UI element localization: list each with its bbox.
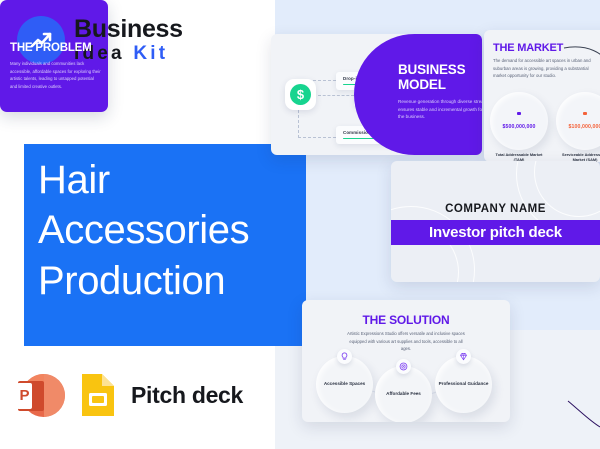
metric-circle-sam: $100,000,000 bbox=[556, 92, 600, 150]
business-model-panel: BUSINESS MODEL Revenue generation throug… bbox=[354, 34, 482, 155]
powerpoint-glyph: P bbox=[19, 388, 29, 403]
brand-name-line1: Business bbox=[74, 17, 183, 42]
dollar-glyph: $ bbox=[290, 84, 311, 105]
page-title: Hair Accessories Production bbox=[38, 155, 249, 306]
investor-title-bar: Investor pitch deck bbox=[391, 220, 600, 245]
title-line-3: Production bbox=[38, 256, 249, 306]
title-line-1: Hair bbox=[38, 155, 249, 205]
connector-middle bbox=[318, 95, 354, 96]
company-name: COMPANY NAME bbox=[391, 203, 600, 215]
lightbulb-icon bbox=[337, 349, 352, 364]
market-title: THE MARKET bbox=[493, 42, 563, 54]
metric-dot bbox=[517, 112, 521, 116]
format-badges: P Pitch deck bbox=[18, 371, 243, 419]
title-line-2: Accessories bbox=[38, 205, 249, 255]
metric-dot bbox=[583, 112, 587, 116]
powerpoint-icon: P bbox=[18, 372, 65, 419]
solution-pillar[interactable]: Accessible Spaces bbox=[316, 356, 373, 413]
slide-the-market[interactable]: THE MARKET The demand for accessible art… bbox=[484, 30, 600, 162]
metric-value: $100,000,000 bbox=[569, 124, 600, 130]
investor-title: Investor pitch deck bbox=[429, 224, 562, 241]
metric-circle-tam: $500,000,000 bbox=[490, 92, 548, 150]
pillar-label: Accessible Spaces bbox=[324, 381, 365, 388]
diamond-icon bbox=[456, 349, 471, 364]
slide-the-solution[interactable]: THE SOLUTION Artistic Expressions Studio… bbox=[302, 300, 510, 422]
solution-pillar[interactable]: Affordable Fees bbox=[375, 366, 432, 422]
problem-title: THE PROBLEM bbox=[10, 42, 92, 54]
curved-arrow-icon bbox=[562, 42, 600, 76]
solution-pillar[interactable]: Professional Guidance bbox=[435, 356, 492, 413]
problem-body: Many individuals and communities lack ac… bbox=[10, 60, 102, 91]
business-model-title: BUSINESS MODEL bbox=[398, 62, 474, 92]
target-icon bbox=[396, 359, 411, 374]
pillar-label: Affordable Fees bbox=[386, 391, 421, 398]
connector-bottom bbox=[298, 137, 336, 138]
slide-business-model[interactable]: $ Drop-in Fees Session Workshops Commiss… bbox=[271, 34, 482, 155]
brand-logo: Business Idea Kit bbox=[17, 16, 183, 64]
metric-value: $500,000,000 bbox=[503, 124, 536, 130]
solution-body: Artistic Expressions Studio offers versa… bbox=[346, 330, 466, 353]
format-label: Pitch deck bbox=[131, 382, 243, 409]
google-slides-icon bbox=[78, 371, 118, 419]
growth-arrow-icon bbox=[17, 16, 65, 64]
pillar-label: Professional Guidance bbox=[439, 381, 489, 388]
solution-title: THE SOLUTION bbox=[302, 313, 510, 327]
business-model-body: Revenue generation through diverse strea… bbox=[398, 98, 482, 120]
poster-canvas: Business Idea Kit Hair Accessories Produ… bbox=[0, 0, 600, 449]
slide-investor-pitch-deck[interactable]: COMPANY NAME Investor pitch deck bbox=[391, 161, 600, 282]
dollar-icon: $ bbox=[285, 79, 316, 110]
brand-kit: Kit bbox=[133, 43, 168, 64]
